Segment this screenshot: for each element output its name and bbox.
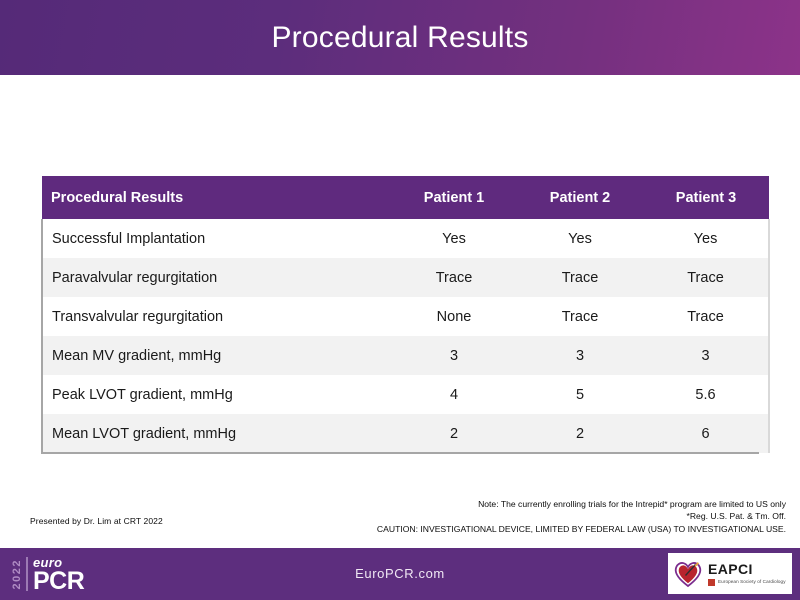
column-header-patient-3: Patient 3 bbox=[643, 176, 769, 219]
note-intrepid-trials: Note: The currently enrolling trials for… bbox=[377, 498, 786, 510]
table-row: Peak LVOT gradient, mmHg 4 5 5.6 bbox=[42, 375, 769, 414]
column-header-procedural-results: Procedural Results bbox=[42, 176, 391, 219]
column-header-patient-1: Patient 1 bbox=[391, 176, 517, 219]
cell-patient-3: Yes bbox=[643, 219, 769, 258]
presenter-credit: Presented by Dr. Lim at CRT 2022 bbox=[30, 516, 163, 526]
table-row: Mean LVOT gradient, mmHg 2 2 6 bbox=[42, 414, 769, 453]
disclaimer-notes: Note: The currently enrolling trials for… bbox=[377, 498, 786, 535]
eapci-subtitle-row: European Society of Cardiology bbox=[708, 579, 786, 586]
cell-patient-2: Trace bbox=[517, 297, 643, 336]
cell-patient-3: Trace bbox=[643, 297, 769, 336]
page-title: Procedural Results bbox=[0, 0, 800, 75]
eapci-text-block: EAPCI European Society of Cardiology bbox=[708, 562, 786, 586]
esc-square-icon bbox=[708, 579, 715, 586]
table-row: Mean MV gradient, mmHg 3 3 3 bbox=[42, 336, 769, 375]
cell-patient-3: 5.6 bbox=[643, 375, 769, 414]
cell-patient-1: Trace bbox=[391, 258, 517, 297]
procedural-results-table: Procedural Results Patient 1 Patient 2 P… bbox=[41, 176, 770, 453]
heart-catheter-icon bbox=[673, 559, 703, 589]
row-label: Peak LVOT gradient, mmHg bbox=[42, 375, 391, 414]
row-label: Successful Implantation bbox=[42, 219, 391, 258]
logo-year: 2022 bbox=[12, 559, 23, 589]
header-banner: Procedural Results bbox=[0, 0, 800, 75]
cell-patient-3: 6 bbox=[643, 414, 769, 453]
cell-patient-2: Trace bbox=[517, 258, 643, 297]
table-row: Paravalvular regurgitation Trace Trace T… bbox=[42, 258, 769, 297]
cell-patient-1: 2 bbox=[391, 414, 517, 453]
table-header-row: Procedural Results Patient 1 Patient 2 P… bbox=[42, 176, 769, 219]
note-trademark: *Reg. U.S. Pat. & Tm. Off. bbox=[377, 510, 786, 522]
note-caution: CAUTION: INVESTIGATIONAL DEVICE, LIMITED… bbox=[377, 523, 786, 535]
column-header-patient-2: Patient 2 bbox=[517, 176, 643, 219]
cell-patient-1: None bbox=[391, 297, 517, 336]
logo-divider bbox=[26, 557, 28, 591]
cell-patient-2: Yes bbox=[517, 219, 643, 258]
europcr-logo: 2022 euro PCR bbox=[12, 554, 84, 594]
footer-bar: EuroPCR.com 2022 euro PCR EAPCI European… bbox=[0, 548, 800, 600]
cell-patient-3: 3 bbox=[643, 336, 769, 375]
table-row: Successful Implantation Yes Yes Yes bbox=[42, 219, 769, 258]
eapci-logo: EAPCI European Society of Cardiology bbox=[668, 553, 792, 594]
table-bottom-rule bbox=[41, 452, 759, 454]
eapci-subtitle: European Society of Cardiology bbox=[718, 580, 786, 585]
cell-patient-3: Trace bbox=[643, 258, 769, 297]
table-row: Transvalvular regurgitation None Trace T… bbox=[42, 297, 769, 336]
cell-patient-1: 3 bbox=[391, 336, 517, 375]
cell-patient-2: 2 bbox=[517, 414, 643, 453]
row-label: Transvalvular regurgitation bbox=[42, 297, 391, 336]
eapci-name: EAPCI bbox=[708, 562, 786, 576]
logo-wordmark: euro PCR bbox=[33, 556, 84, 593]
logo-pcr-text: PCR bbox=[33, 570, 84, 593]
cell-patient-2: 5 bbox=[517, 375, 643, 414]
cell-patient-1: 4 bbox=[391, 375, 517, 414]
cell-patient-2: 3 bbox=[517, 336, 643, 375]
table-header: Procedural Results Patient 1 Patient 2 P… bbox=[42, 176, 769, 219]
cell-patient-1: Yes bbox=[391, 219, 517, 258]
table-body: Successful Implantation Yes Yes Yes Para… bbox=[42, 219, 769, 453]
row-label: Mean MV gradient, mmHg bbox=[42, 336, 391, 375]
row-label: Paravalvular regurgitation bbox=[42, 258, 391, 297]
row-label: Mean LVOT gradient, mmHg bbox=[42, 414, 391, 453]
